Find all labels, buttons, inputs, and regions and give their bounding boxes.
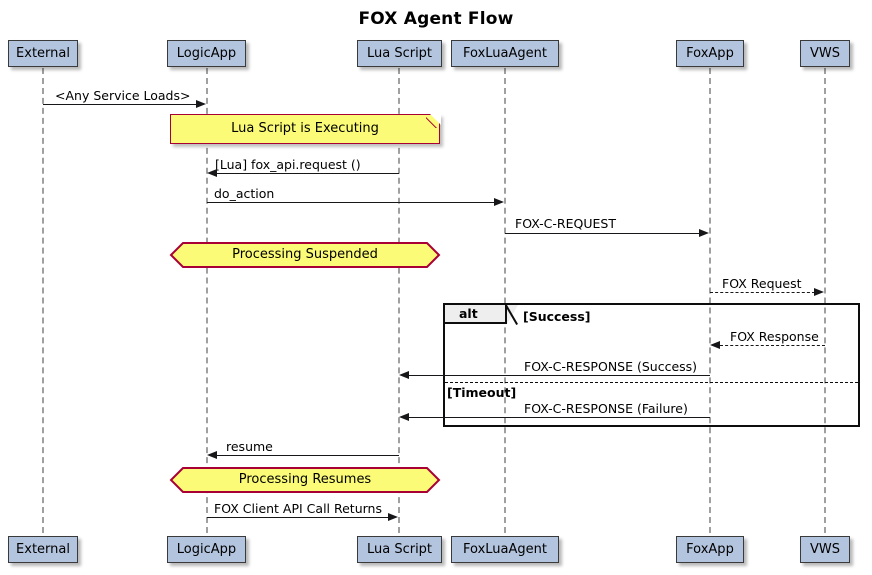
arrow-head-resume: [207, 451, 217, 459]
message-label-fox-request: FOX Request: [722, 276, 802, 291]
lifeline-foxapp: [709, 68, 711, 533]
fragment-guard-timeout: [Timeout]: [447, 385, 516, 400]
arrow-head-fox-client-api-call-returns: [388, 513, 398, 521]
lifeline-foxluaagent: [504, 68, 506, 533]
participant-label: VWS: [810, 542, 840, 557]
message-label-fox-c-response-failure: FOX-C-RESPONSE (Failure): [524, 401, 688, 416]
participant-label: FoxLuaAgent: [463, 46, 547, 61]
participant-label: External: [16, 46, 70, 61]
participant-label: Lua Script: [367, 46, 432, 61]
arrow-head-fox-c-response-failure: [399, 413, 409, 421]
arrow-head-fox-c-request: [699, 229, 709, 237]
participant-label: Lua Script: [367, 542, 432, 557]
fragment-operator-label: alt: [459, 306, 478, 321]
sequence-diagram-canvas: FOX Agent Flow External LogicApp Lua Scr…: [0, 0, 872, 575]
message-label-fox-client-api-call-returns: FOX Client API Call Returns: [214, 501, 382, 516]
fragment-operator-tab: alt: [445, 305, 507, 324]
participant-label: External: [16, 542, 70, 557]
participant-luascript-top[interactable]: Lua Script: [357, 40, 442, 67]
message-line-fox-c-request: [505, 233, 700, 234]
message-line-resume: [217, 455, 399, 456]
message-label-lua-fox-api-request: [Lua] fox_api.request (): [215, 157, 361, 172]
message-line-fox-client-api-call-returns: [207, 517, 389, 518]
message-label-resume: resume: [226, 439, 273, 454]
message-label-fox-response: FOX Response: [730, 329, 819, 344]
message-line-do-action: [207, 202, 495, 203]
note-lua-script-is-executing: Lua Script is Executing: [170, 114, 440, 144]
divider-label: Processing Suspended: [170, 242, 440, 268]
fragment-separator: [445, 382, 858, 383]
participant-foxapp-bottom[interactable]: FoxApp: [676, 536, 744, 563]
message-line-lua-fox-api-request: [217, 173, 399, 174]
message-line-fox-c-response-success: [409, 375, 710, 376]
message-label-fox-c-response-success: FOX-C-RESPONSE (Success): [524, 359, 697, 374]
divider-label: Processing Resumes: [170, 467, 440, 493]
participant-label: FoxLuaAgent: [463, 542, 547, 557]
page-title: FOX Agent Flow: [0, 9, 872, 29]
message-line-fox-response: [720, 345, 825, 346]
participant-foxluaagent-bottom[interactable]: FoxLuaAgent: [451, 536, 559, 563]
message-line-fox-request: [710, 292, 815, 293]
arrow-head-fox-c-response-success: [399, 371, 409, 379]
arrow-head-do-action: [494, 198, 504, 206]
participant-vws-top[interactable]: VWS: [800, 40, 850, 67]
participant-foxapp-top[interactable]: FoxApp: [676, 40, 744, 67]
message-line-fox-c-response-failure: [409, 417, 710, 418]
participant-label: VWS: [810, 46, 840, 61]
lifeline-external: [42, 68, 44, 533]
participant-luascript-bottom[interactable]: Lua Script: [357, 536, 442, 563]
participant-external-top[interactable]: External: [8, 40, 78, 67]
participant-logicapp-top[interactable]: LogicApp: [167, 40, 246, 67]
arrow-head-fox-response: [710, 341, 720, 349]
arrow-head-fox-request: [814, 288, 824, 296]
message-label-do-action: do_action: [214, 186, 274, 201]
divider-processing-suspended: Processing Suspended: [170, 242, 440, 268]
participant-foxluaagent-top[interactable]: FoxLuaAgent: [451, 40, 559, 67]
participant-label: LogicApp: [177, 542, 236, 557]
participant-label: LogicApp: [177, 46, 236, 61]
participant-label: FoxApp: [686, 542, 734, 557]
note-fold-edge-icon: [426, 113, 441, 128]
lifeline-vws: [824, 68, 826, 533]
message-label-fox-c-request: FOX-C-REQUEST: [515, 216, 616, 231]
participant-logicapp-bottom[interactable]: LogicApp: [167, 536, 246, 563]
participant-vws-bottom[interactable]: VWS: [800, 536, 850, 563]
arrow-head-lua-fox-api-request: [207, 169, 217, 177]
arrow-head-any-service-loads: [196, 100, 206, 108]
participant-external-bottom[interactable]: External: [8, 536, 78, 563]
divider-processing-resumes: Processing Resumes: [170, 467, 440, 493]
participant-label: FoxApp: [686, 46, 734, 61]
fragment-guard-success: [Success]: [523, 309, 591, 324]
message-label-any-service-loads: <Any Service Loads>: [55, 88, 190, 103]
note-label: Lua Script is Executing: [231, 121, 379, 136]
message-line-any-service-loads: [43, 104, 196, 105]
